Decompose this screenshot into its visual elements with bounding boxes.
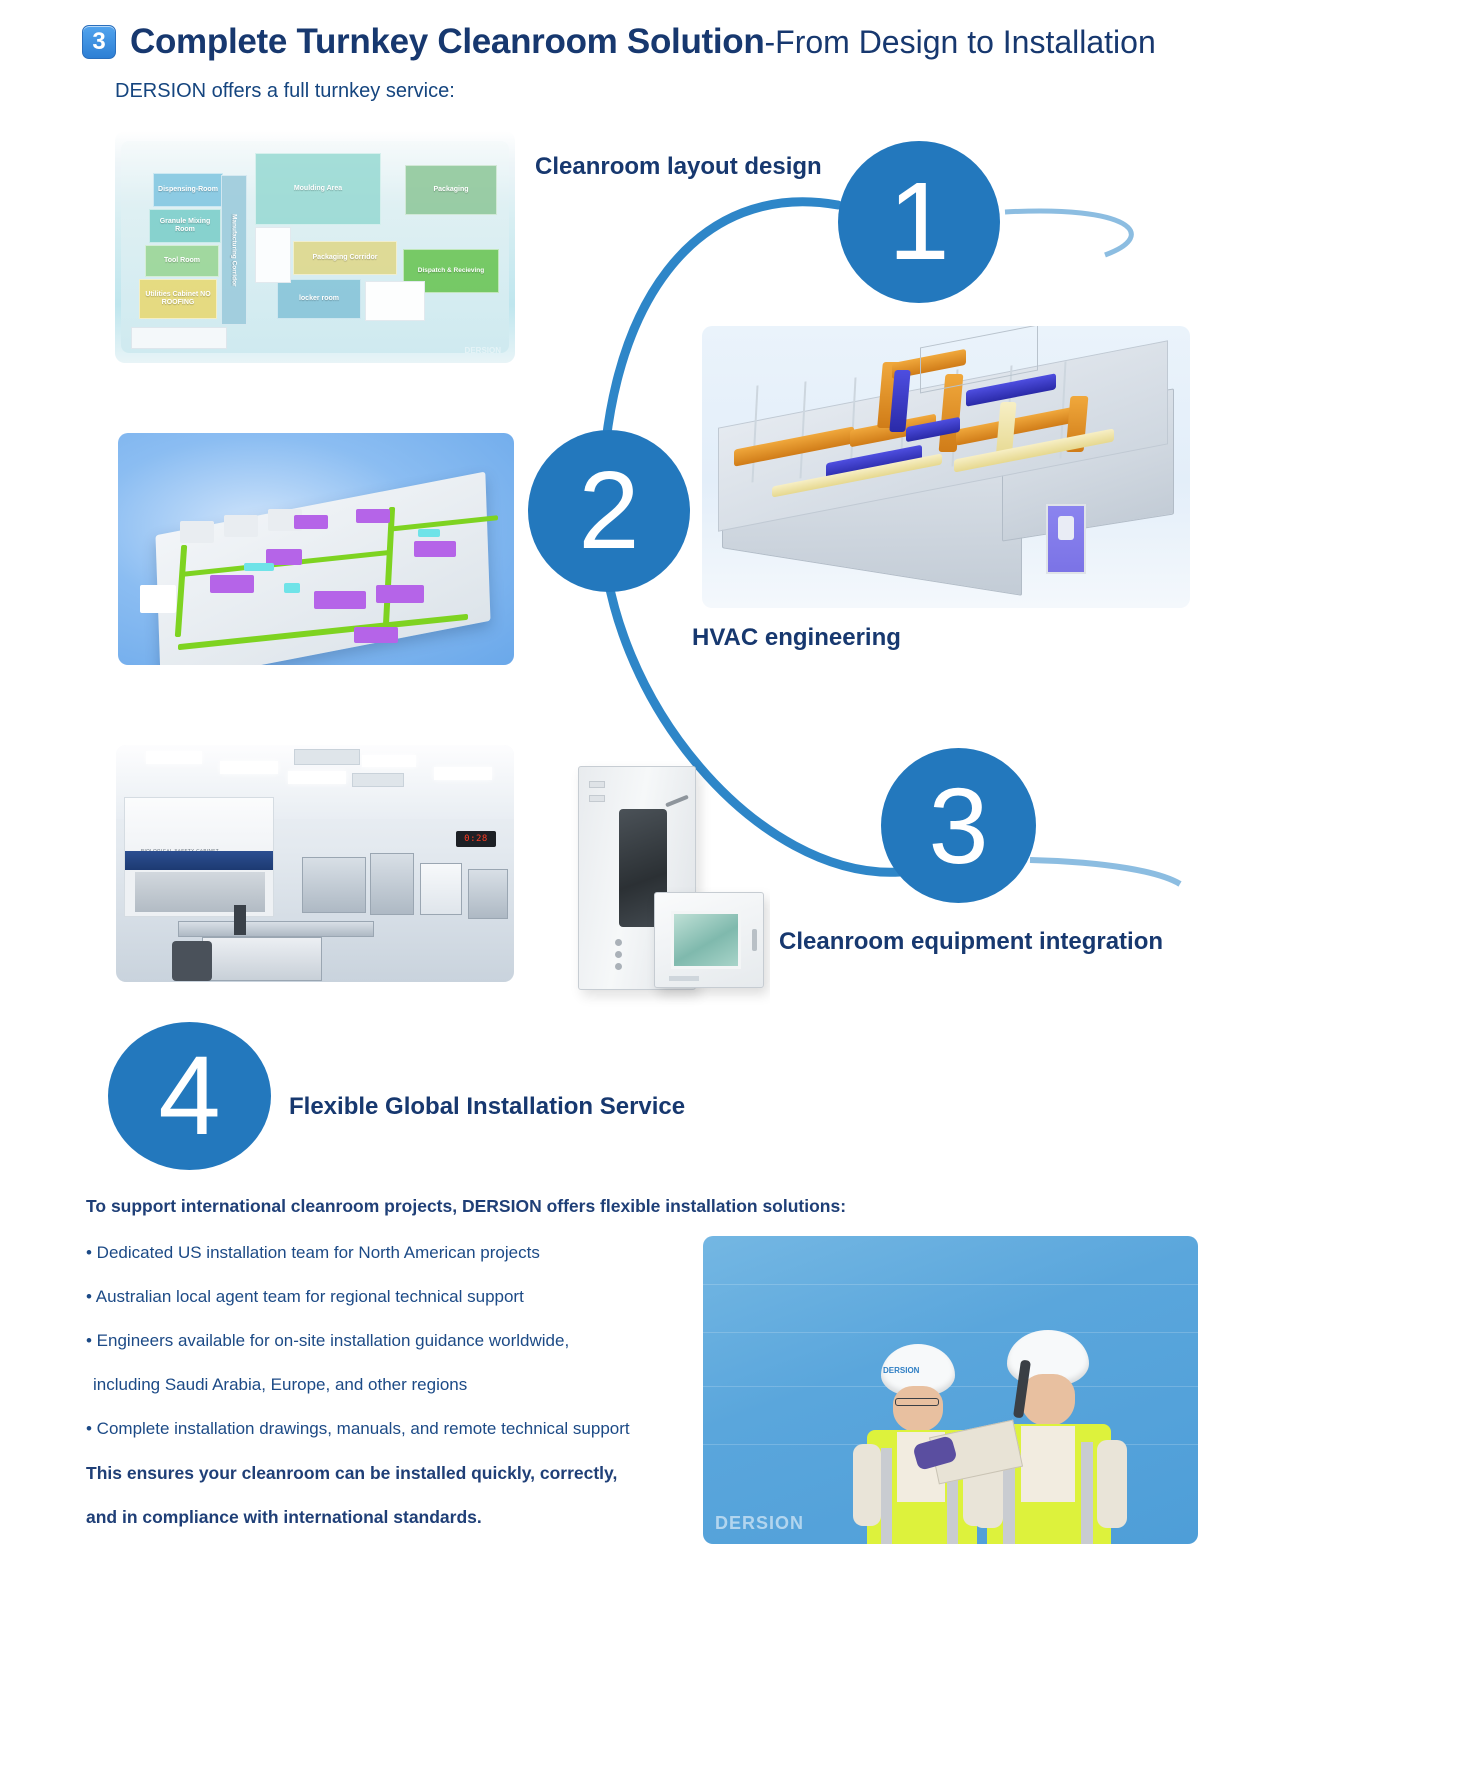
room-label: Moulding Area	[255, 153, 381, 225]
digital-clock: 0:28	[456, 831, 496, 847]
utility-piping-image	[118, 433, 514, 665]
installation-closing-line-2: and in compliance with international sta…	[86, 1507, 726, 1528]
section-number-badge: 3	[82, 25, 116, 59]
installation-heading: To support international cleanroom proje…	[86, 1196, 726, 1217]
room-label: Dispensing-Room	[153, 173, 223, 207]
step-label-3: Cleanroom equipment integration	[779, 928, 1163, 956]
step-circle-2: 2	[528, 430, 690, 592]
page-title-sub: -From Design to Installation	[764, 24, 1155, 60]
biological-safety-cabinet: BIOLOGICAL SAFETY CABINET	[124, 797, 274, 917]
layout-watermark: DERSION	[465, 346, 501, 355]
step-circle-4: 4	[108, 1022, 271, 1170]
installation-closing-line-1: This ensures your cleanroom can be insta…	[86, 1463, 726, 1484]
page-header: 3 Complete Turnkey Cleanroom Solution-Fr…	[82, 22, 1156, 62]
installation-bullet: • Engineers available for on-site instal…	[86, 1331, 726, 1351]
step-circle-3: 3	[881, 748, 1036, 903]
room-label: locker room	[277, 279, 361, 319]
installation-bullet: • Complete installation drawings, manual…	[86, 1419, 726, 1439]
room-label: Utilities Cabinet NO ROOFING	[139, 279, 217, 319]
lead-text: DERSION offers a full turnkey service:	[115, 80, 455, 103]
cleanroom-layout-image: Dispensing-Room Granule Mixing Room Tool…	[115, 131, 515, 363]
installation-bullet: including Saudi Arabia, Europe, and othe…	[86, 1375, 726, 1395]
cleanroom-lab-photo: BIOLOGICAL SAFETY CABINET 0:28	[116, 745, 514, 982]
page-title: Complete Turnkey Cleanroom Solution-From…	[130, 22, 1156, 62]
installation-bullet: • Australian local agent team for region…	[86, 1287, 726, 1307]
pass-box	[654, 892, 764, 988]
step-label-2: HVAC engineering	[692, 624, 901, 652]
installation-bullet: • Dedicated US installation team for Nor…	[86, 1243, 726, 1263]
hvac-engineering-image	[702, 326, 1190, 608]
room-label: Packaging	[405, 165, 497, 215]
step-label-1: Cleanroom layout design	[535, 153, 822, 181]
room-label: Granule Mixing Room	[149, 209, 221, 243]
helmet-brand: DERSION	[883, 1366, 919, 1375]
step-circle-1: 1	[838, 141, 1000, 303]
step-label-4: Flexible Global Installation Service	[289, 1093, 685, 1121]
room-label: Packaging Corridor	[293, 241, 397, 275]
page-title-main: Complete Turnkey Cleanroom Solution	[130, 22, 764, 61]
cleanroom-equipment-image	[570, 758, 770, 1018]
team-watermark: DERSION	[715, 1513, 804, 1534]
room-label: Manufacturing Corridor	[221, 175, 247, 325]
room-label: Tool Room	[145, 245, 219, 277]
installation-team-photo: DERSION DERSION	[703, 1236, 1198, 1544]
